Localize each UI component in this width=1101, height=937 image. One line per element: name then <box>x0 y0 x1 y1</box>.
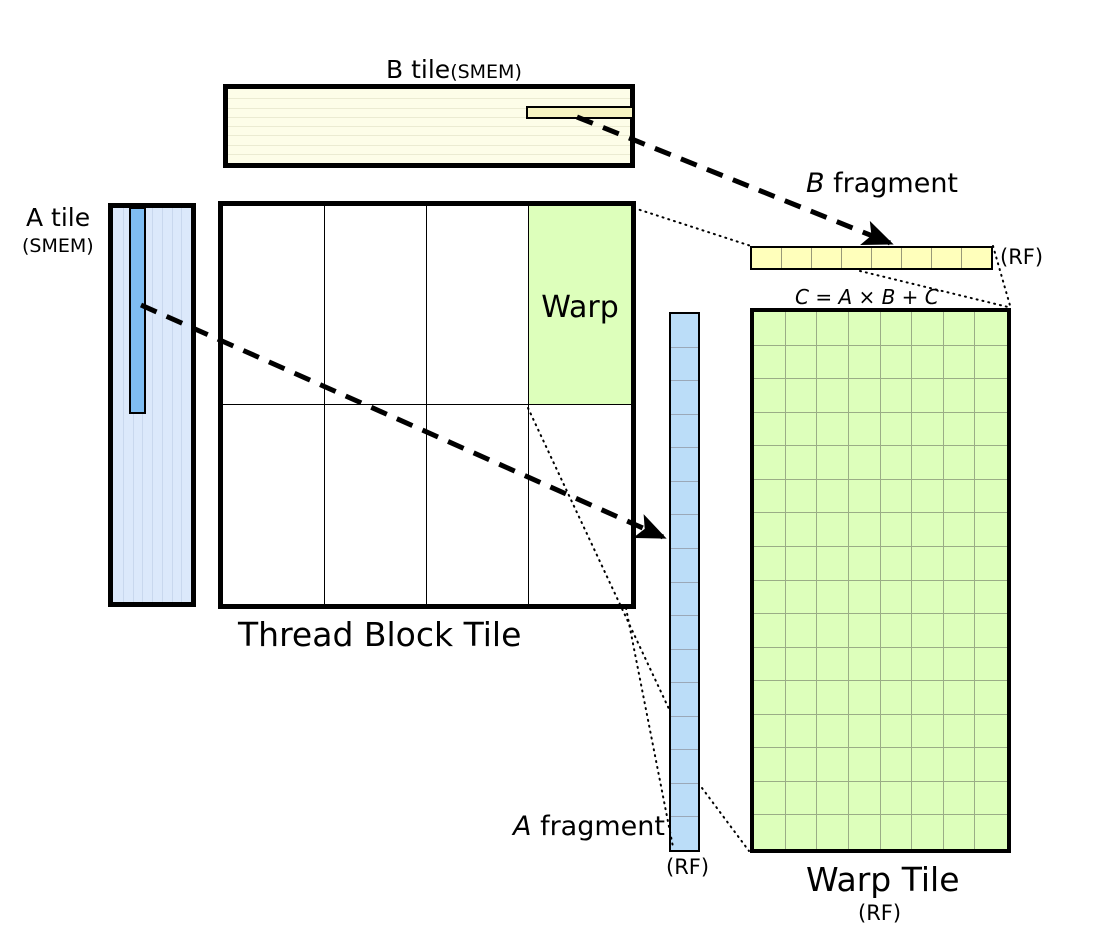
warp-tile-cell <box>754 547 786 581</box>
b-fragment-cell <box>962 248 991 268</box>
warp-tile-cell <box>881 581 913 615</box>
warp-tile-cell <box>786 581 818 615</box>
warp-tile-cell <box>975 379 1007 413</box>
thread-block-cell <box>223 206 325 405</box>
a-tile-memory-label: (SMEM) <box>22 237 94 256</box>
warp-tile-cell <box>754 346 786 380</box>
warp-tile-cell <box>754 581 786 615</box>
a-fragment-cell <box>671 784 698 818</box>
thread-block-cell-warp: Warp <box>529 206 631 405</box>
thread-block-cell <box>427 405 529 604</box>
warp-tile-cell <box>944 681 976 715</box>
a-fragment-cell <box>671 650 698 684</box>
b-fragment-label-rest: fragment <box>825 168 958 199</box>
warp-tile-cell <box>754 782 786 816</box>
thread-block-cell <box>427 206 529 405</box>
warp-tile-cell <box>849 346 881 380</box>
warp-tile-cell <box>944 748 976 782</box>
warp-tile-cell <box>817 446 849 480</box>
warp-tile-cell <box>786 446 818 480</box>
warp-tile-cell <box>912 581 944 615</box>
warp-tile-cell <box>817 346 849 380</box>
warp-tile-cell <box>975 715 1007 749</box>
warp-tile-cell <box>786 715 818 749</box>
a-tile-title: A tile <box>26 205 90 230</box>
warp-tile-cell <box>975 782 1007 816</box>
b-fragment-cell <box>812 248 842 268</box>
warp-tile-cell <box>912 346 944 380</box>
a-fragment-cell <box>671 750 698 784</box>
warp-tile-cell <box>817 681 849 715</box>
warp-tile-cell <box>975 681 1007 715</box>
thread-block-cell <box>529 405 631 604</box>
a-fragment-label: A fragment <box>513 813 665 840</box>
thread-block-tile-box: Warp <box>218 201 636 609</box>
warp-tile-cell <box>817 715 849 749</box>
b-tile-stripe <box>228 98 630 99</box>
warp-tile-cell <box>754 480 786 514</box>
warp-tile-cell <box>881 748 913 782</box>
b-fragment-label-italic: B <box>806 168 825 199</box>
warp-tile-cell <box>975 413 1007 447</box>
b-fragment-cell <box>902 248 932 268</box>
warp-tile-cell <box>881 681 913 715</box>
warp-tile-cell <box>817 513 849 547</box>
warp-tile-cell <box>944 581 976 615</box>
warp-tile-cell <box>786 782 818 816</box>
warp-tile-cell <box>944 715 976 749</box>
b-fragment-box <box>750 246 993 270</box>
b-fragment-cell <box>932 248 962 268</box>
warp-tile-cell <box>786 312 818 346</box>
warp-tile-cell <box>881 715 913 749</box>
a-fragment-cell <box>671 482 698 516</box>
warp-tile-cell <box>975 547 1007 581</box>
warp-tile-cell <box>754 681 786 715</box>
warp-tile-caption: Warp Tile <box>806 863 960 896</box>
warp-tile-cell <box>817 312 849 346</box>
warp-tile-cell <box>754 379 786 413</box>
b-tile-fragment-highlight <box>526 106 634 119</box>
warp-tile-cell <box>881 379 913 413</box>
b-tile-memory-text: (SMEM) <box>450 61 522 83</box>
warp-tile-cell <box>817 815 849 849</box>
warp-tile-cell <box>975 581 1007 615</box>
warp-tile-cell <box>754 748 786 782</box>
warp-tile-cell <box>975 614 1007 648</box>
warp-tile-cell <box>944 547 976 581</box>
warp-tile-cell <box>754 312 786 346</box>
warp-tile-cell <box>754 815 786 849</box>
warp-tile-cell <box>786 346 818 380</box>
thread-block-cell <box>223 405 325 604</box>
thread-block-tile-caption: Thread Block Tile <box>238 618 521 651</box>
warp-tile-cell <box>786 513 818 547</box>
b-fragment-cell <box>842 248 872 268</box>
warp-tile-cell <box>849 581 881 615</box>
warp-tile-equation-text: C = A × B + C <box>795 285 939 309</box>
warp-cell-label: Warp <box>529 290 631 325</box>
warp-tile-cell <box>944 446 976 480</box>
a-fragment-cell <box>671 314 698 348</box>
warp-tile-cell <box>817 581 849 615</box>
warp-tile-cell <box>881 312 913 346</box>
b-fragment-cell <box>872 248 902 268</box>
warp-tile-cell <box>881 413 913 447</box>
a-fragment-label-rest: fragment <box>531 811 664 842</box>
warp-tile-cell <box>754 715 786 749</box>
b-tile-stripes <box>228 89 630 163</box>
warp-tile-cell <box>881 346 913 380</box>
a-tile-stripes <box>113 208 191 602</box>
leader-afrag-to-warptile-bl <box>702 788 749 851</box>
warp-tile-cell <box>912 782 944 816</box>
warp-tile-cell <box>786 413 818 447</box>
a-fragment-label-italic: A <box>513 811 531 842</box>
warp-tile-cell <box>912 413 944 447</box>
warp-tile-cell <box>881 446 913 480</box>
leader-warp-tl-to-bfrag <box>634 208 751 246</box>
warp-tile-cell <box>975 480 1007 514</box>
warp-tile-cell <box>817 614 849 648</box>
warp-tile-cell <box>849 513 881 547</box>
warp-tile-cell <box>786 379 818 413</box>
warp-tile-cell <box>849 715 881 749</box>
warp-tile-cell <box>817 648 849 682</box>
b-fragment-memory-label: (RF) <box>1000 247 1043 268</box>
warp-tile-cell <box>754 413 786 447</box>
warp-tile-cell <box>975 748 1007 782</box>
warp-tile-cell <box>849 748 881 782</box>
warp-tile-cell <box>849 614 881 648</box>
warp-tile-cell <box>975 815 1007 849</box>
a-fragment-memory-label: (RF) <box>666 857 709 878</box>
b-tile-title-text: B tile <box>386 55 450 84</box>
a-tile-smem-box <box>108 203 196 607</box>
warp-tile-cell <box>944 413 976 447</box>
warp-tile-cell <box>786 748 818 782</box>
warp-tile-cell <box>786 614 818 648</box>
b-tile-stripe <box>228 154 630 155</box>
warp-tile-cell <box>817 480 849 514</box>
warp-tile-cell <box>912 648 944 682</box>
warp-tile-cell <box>881 782 913 816</box>
warp-tile-cell <box>817 782 849 816</box>
warp-tile-cell <box>817 547 849 581</box>
warp-tile-cell <box>975 446 1007 480</box>
b-tile-title: B tile(SMEM) <box>386 57 522 82</box>
b-fragment-label: B fragment <box>806 170 958 197</box>
a-fragment-cell <box>671 381 698 415</box>
diagram-canvas: B tile(SMEM) A tile (SMEM) Warp Thread B… <box>0 0 1101 937</box>
a-fragment-cell <box>671 515 698 549</box>
b-fragment-cell <box>782 248 812 268</box>
warp-tile-cell <box>912 715 944 749</box>
b-tile-smem-box <box>223 84 635 168</box>
a-tile-stripe <box>181 208 182 602</box>
warp-tile-cell <box>849 782 881 816</box>
a-fragment-cell <box>671 717 698 751</box>
a-tile-stripe <box>172 208 173 602</box>
a-fragment-cell <box>671 348 698 382</box>
warp-tile-cell <box>912 513 944 547</box>
warp-tile-cell <box>849 312 881 346</box>
a-tile-stripe <box>152 208 153 602</box>
warp-tile-cell <box>849 446 881 480</box>
warp-tile-cell <box>944 648 976 682</box>
warp-tile-cell <box>849 648 881 682</box>
warp-tile-cell <box>975 312 1007 346</box>
warp-tile-cell <box>912 480 944 514</box>
warp-tile-cell <box>786 547 818 581</box>
b-tile-stripe <box>228 135 630 136</box>
warp-tile-memory-label: (RF) <box>858 903 901 924</box>
warp-tile-cell <box>786 648 818 682</box>
warp-tile-cell <box>944 815 976 849</box>
warp-tile-cell <box>849 413 881 447</box>
warp-tile-cell <box>912 681 944 715</box>
warp-tile-cell <box>912 748 944 782</box>
a-fragment-cell <box>671 549 698 583</box>
warp-tile-cell <box>849 681 881 715</box>
a-fragment-box <box>669 312 700 852</box>
warp-tile-cell <box>944 513 976 547</box>
warp-tile-cell <box>944 614 976 648</box>
thread-block-cell <box>325 206 427 405</box>
b-tile-stripe <box>228 126 630 127</box>
a-fragment-cell <box>671 583 698 617</box>
warp-tile-cell <box>754 648 786 682</box>
warp-tile-cell <box>754 446 786 480</box>
a-fragment-cell <box>671 683 698 717</box>
a-fragment-cell <box>671 616 698 650</box>
warp-tile-cell <box>786 681 818 715</box>
a-tile-fragment-highlight <box>129 207 146 414</box>
b-tile-stripe <box>228 145 630 146</box>
a-tile-stripe <box>123 208 124 602</box>
warp-tile-box <box>750 308 1011 853</box>
warp-tile-cell <box>881 614 913 648</box>
warp-tile-cell <box>912 446 944 480</box>
thread-block-cell <box>325 405 427 604</box>
warp-tile-cell <box>912 547 944 581</box>
warp-tile-cell <box>975 648 1007 682</box>
warp-tile-cell <box>912 614 944 648</box>
warp-tile-cell <box>817 748 849 782</box>
warp-tile-cell <box>912 379 944 413</box>
a-fragment-cell <box>671 817 698 850</box>
warp-tile-cell <box>975 346 1007 380</box>
a-fragment-cell <box>671 448 698 482</box>
warp-tile-cell <box>975 513 1007 547</box>
warp-tile-cell <box>786 815 818 849</box>
warp-tile-cell <box>754 513 786 547</box>
warp-tile-cell <box>944 480 976 514</box>
warp-tile-cell <box>849 547 881 581</box>
warp-tile-cell <box>881 648 913 682</box>
warp-tile-cell <box>849 480 881 514</box>
b-fragment-cell <box>752 248 782 268</box>
warp-tile-cell <box>817 413 849 447</box>
warp-tile-cell <box>881 480 913 514</box>
warp-tile-cell <box>944 782 976 816</box>
warp-tile-cell <box>912 312 944 346</box>
warp-tile-cell <box>786 480 818 514</box>
warp-tile-cell <box>754 614 786 648</box>
warp-tile-equation: C = A × B + C <box>795 287 939 307</box>
warp-tile-cell <box>849 379 881 413</box>
a-tile-stripe <box>162 208 163 602</box>
warp-tile-cell <box>944 379 976 413</box>
warp-tile-cell <box>881 547 913 581</box>
warp-tile-cell <box>944 346 976 380</box>
warp-tile-cell <box>881 815 913 849</box>
warp-tile-cell <box>817 379 849 413</box>
a-fragment-cell <box>671 415 698 449</box>
warp-tile-cell <box>912 815 944 849</box>
warp-tile-cell <box>944 312 976 346</box>
warp-tile-cell <box>849 815 881 849</box>
warp-tile-cell <box>881 513 913 547</box>
